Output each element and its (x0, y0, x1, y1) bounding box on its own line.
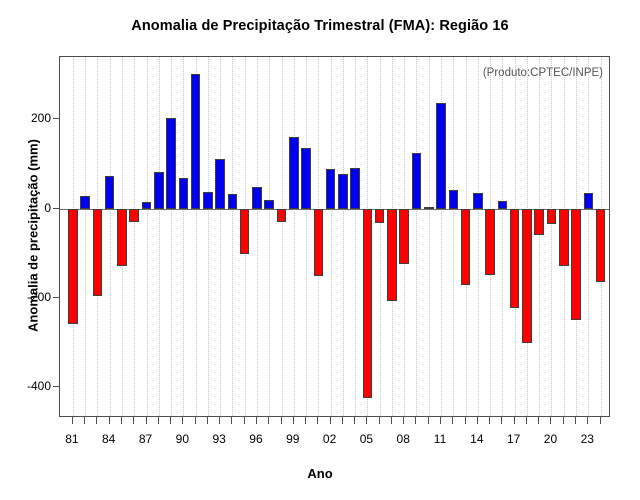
bar-08 (399, 209, 409, 264)
grid-line (110, 57, 111, 416)
x-tick-mark (501, 417, 502, 424)
x-tick-label: 90 (176, 432, 189, 446)
grid-line (294, 57, 295, 416)
source-annotation: (Produto:CPTEC/INPE) (483, 67, 603, 79)
x-tick-mark (366, 417, 367, 424)
bar-06 (375, 209, 385, 224)
y-tick-label: 0 (44, 201, 51, 215)
grid-line (232, 57, 233, 416)
chart-title: Anomalia de Precipitação Trimestral (FMA… (0, 18, 640, 34)
x-tick-mark (281, 417, 282, 424)
bar-10 (424, 207, 434, 209)
grid-line (539, 57, 540, 416)
x-tick-mark (440, 417, 441, 424)
x-tick-mark (526, 417, 527, 424)
x-tick-mark (121, 417, 122, 424)
grid-line (147, 57, 148, 416)
bar-16 (498, 201, 508, 209)
x-tick-mark (403, 417, 404, 424)
grid-line (134, 57, 135, 416)
x-tick-mark (231, 417, 232, 424)
bar-83 (93, 209, 103, 296)
bar-18 (522, 209, 532, 344)
x-tick-mark (84, 417, 85, 424)
bar-03 (338, 174, 348, 209)
y-tick-label: -200 (27, 290, 51, 304)
grid-line (171, 57, 172, 416)
x-tick-label: 96 (249, 432, 262, 446)
x-tick-label: 20 (544, 432, 557, 446)
x-tick-mark (342, 417, 343, 424)
grid-line (183, 57, 184, 416)
x-tick-label: 11 (434, 432, 446, 446)
x-tick-label: 93 (212, 432, 225, 446)
x-tick-label: 05 (360, 432, 373, 446)
x-tick-mark (256, 417, 257, 424)
bar-19 (534, 209, 544, 236)
x-tick-label: 87 (139, 432, 152, 446)
x-tick-mark (465, 417, 466, 424)
x-tick-mark (158, 417, 159, 424)
bar-12 (449, 190, 459, 208)
bar-85 (117, 209, 127, 267)
bar-98 (277, 209, 287, 222)
x-tick-mark (538, 417, 539, 424)
bar-21 (559, 209, 569, 266)
x-tick-label: 81 (65, 432, 78, 446)
grid-line (282, 57, 283, 416)
bar-20 (547, 209, 557, 225)
grid-line (502, 57, 503, 416)
grid-line (331, 57, 332, 416)
x-tick-mark (415, 417, 416, 424)
x-tick-mark (600, 417, 601, 424)
x-tick-mark (170, 417, 171, 424)
bar-92 (203, 192, 213, 208)
x-tick-mark (330, 417, 331, 424)
y-tick-label: 200 (31, 111, 51, 125)
grid-line (588, 57, 589, 416)
bar-17 (510, 209, 520, 309)
bar-97 (264, 200, 274, 209)
x-tick-mark (195, 417, 196, 424)
bar-91 (191, 74, 201, 209)
x-tick-mark (72, 417, 73, 424)
grid-line (306, 57, 307, 416)
chart-root: Anomalia de Precipitação Trimestral (FMA… (0, 0, 640, 500)
x-tick-mark (587, 417, 588, 424)
bar-02 (326, 169, 336, 208)
x-tick-mark (489, 417, 490, 424)
grid-line (85, 57, 86, 416)
grid-line (257, 57, 258, 416)
grid-line (220, 57, 221, 416)
bar-14 (473, 193, 483, 208)
bar-95 (240, 209, 250, 254)
bar-04 (350, 168, 360, 208)
x-tick-mark (354, 417, 355, 424)
x-tick-label: 23 (581, 432, 594, 446)
bar-99 (289, 137, 299, 209)
x-tick-mark (428, 417, 429, 424)
bar-22 (571, 209, 581, 320)
x-tick-mark (268, 417, 269, 424)
bar-01 (314, 209, 324, 276)
bar-86 (129, 209, 139, 222)
y-axis-tick-labels: 2000-200-400 (0, 0, 51, 500)
x-tick-label: 02 (323, 432, 336, 446)
bar-93 (215, 159, 225, 209)
grid-line (429, 57, 430, 416)
x-tick-mark (219, 417, 220, 424)
x-tick-mark (575, 417, 576, 424)
bar-23 (584, 193, 594, 209)
y-tick-label: -400 (27, 379, 51, 393)
x-tick-mark (244, 417, 245, 424)
x-tick-mark (391, 417, 392, 424)
bar-24 (596, 209, 606, 283)
x-tick-mark (550, 417, 551, 424)
x-tick-mark (96, 417, 97, 424)
x-tick-mark (293, 417, 294, 424)
bar-82 (80, 196, 90, 208)
bar-88 (154, 172, 164, 209)
x-tick-mark (477, 417, 478, 424)
bar-00 (301, 148, 311, 209)
bar-81 (68, 209, 78, 325)
bar-94 (228, 194, 238, 208)
grid-line (269, 57, 270, 416)
x-tick-label: 99 (286, 432, 299, 446)
x-tick-label: 84 (102, 432, 115, 446)
bar-90 (179, 178, 189, 208)
bar-11 (436, 103, 446, 208)
bar-13 (461, 209, 471, 286)
x-tick-mark (146, 417, 147, 424)
grid-line (453, 57, 454, 416)
grid-line (380, 57, 381, 416)
x-tick-mark (317, 417, 318, 424)
bar-07 (387, 209, 397, 302)
grid-line (551, 57, 552, 416)
x-tick-mark (305, 417, 306, 424)
x-tick-mark (452, 417, 453, 424)
x-tick-mark (379, 417, 380, 424)
x-tick-label: 14 (470, 432, 483, 446)
grid-line (343, 57, 344, 416)
x-tick-mark (109, 417, 110, 424)
grid-line (416, 57, 417, 416)
bar-09 (412, 153, 422, 209)
bar-96 (252, 187, 262, 208)
bar-05 (363, 209, 373, 399)
x-tick-mark (563, 417, 564, 424)
x-tick-mark (207, 417, 208, 424)
grid-line (159, 57, 160, 416)
x-axis-title: Ano (0, 466, 640, 481)
bar-87 (142, 202, 152, 209)
x-tick-mark (514, 417, 515, 424)
bar-84 (105, 176, 115, 209)
bar-15 (485, 209, 495, 276)
plot-area: (Produto:CPTEC/INPE) (59, 56, 610, 417)
grid-line (208, 57, 209, 416)
x-tick-mark (182, 417, 183, 424)
x-tick-label: 17 (507, 432, 520, 446)
grid-line (355, 57, 356, 416)
x-tick-mark (133, 417, 134, 424)
bar-89 (166, 118, 176, 209)
x-tick-label: 08 (397, 432, 410, 446)
grid-line (478, 57, 479, 416)
